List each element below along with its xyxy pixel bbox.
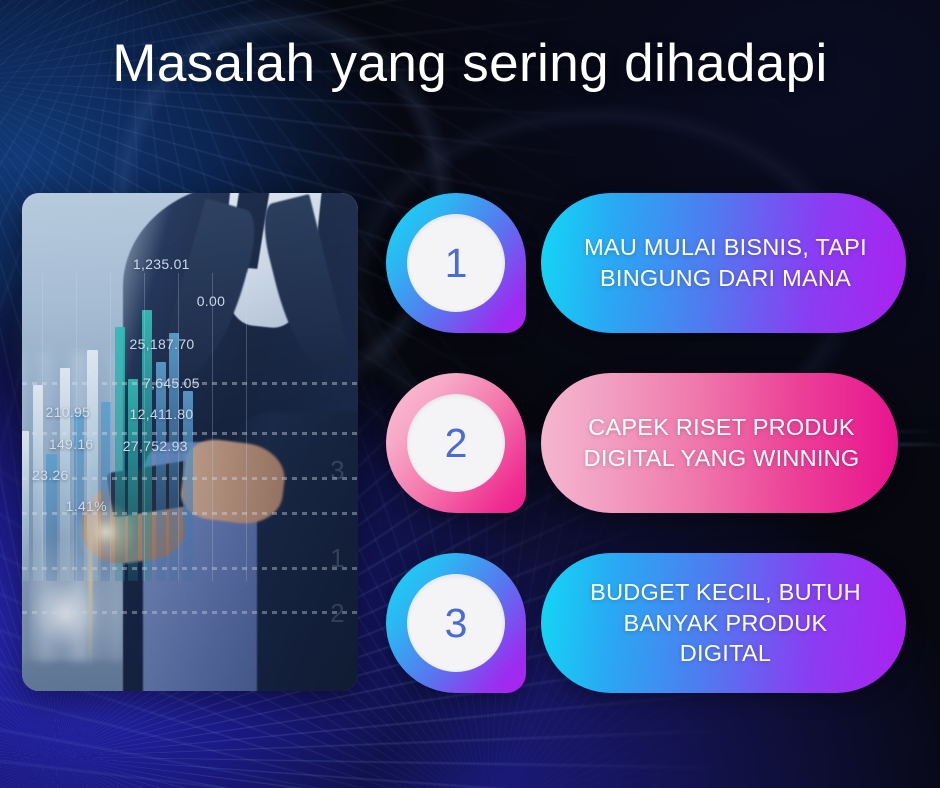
card-text-pill[interactable]: MAU MULAI BISNIS, TAPI BINGUNG DARI MANA — [541, 193, 906, 333]
card-text-label: CAPEK RISET PRODUK DIGITAL YANG WINNING — [579, 412, 864, 473]
card-text-label: MAU MULAI BISNIS, TAPI BINGUNG DARI MANA — [579, 232, 872, 293]
card-number-badge: 1 — [386, 193, 526, 333]
photo-color-tint — [22, 193, 358, 691]
problem-card-3[interactable]: BUDGET KECIL, BUTUH BANYAK PRODUK DIGITA… — [386, 553, 906, 693]
card-number-label: 1 — [407, 214, 505, 312]
card-number-badge: 3 — [386, 553, 526, 693]
problem-card-list: MAU MULAI BISNIS, TAPI BINGUNG DARI MANA… — [386, 193, 906, 693]
card-number-badge: 2 — [386, 373, 526, 513]
poster-canvas: Masalah yang sering dihadapi 1,235.010.0… — [0, 0, 940, 788]
card-number-label: 2 — [407, 394, 505, 492]
problem-card-1[interactable]: MAU MULAI BISNIS, TAPI BINGUNG DARI MANA… — [386, 193, 906, 333]
card-text-pill[interactable]: BUDGET KECIL, BUTUH BANYAK PRODUK DIGITA… — [541, 553, 906, 693]
page-title: Masalah yang sering dihadapi — [0, 34, 940, 94]
card-number-label: 3 — [407, 574, 505, 672]
card-text-pill[interactable]: CAPEK RISET PRODUK DIGITAL YANG WINNING — [541, 373, 898, 513]
problem-card-2[interactable]: CAPEK RISET PRODUK DIGITAL YANG WINNING2 — [386, 373, 906, 513]
businessman-holographic-chart-photo: 1,235.010.0025,187.707,645.05210.9512,41… — [22, 193, 358, 691]
card-text-label: BUDGET KECIL, BUTUH BANYAK PRODUK DIGITA… — [579, 577, 872, 669]
